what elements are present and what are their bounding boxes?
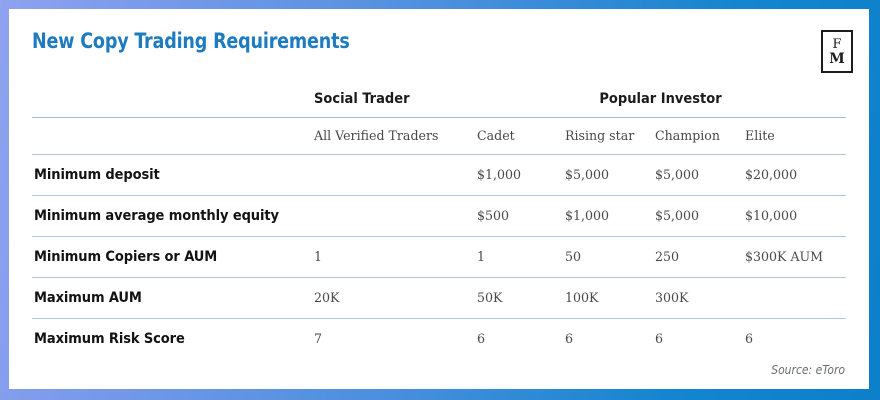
column-header-rising-star: Rising star: [563, 117, 653, 154]
row-label-minimum-copiers-or-aum: Minimum Copiers or AUM: [32, 236, 312, 277]
group-header-popular-investor: Popular Investor: [475, 81, 846, 117]
table-row: Maximum Risk Score 7 6 6 6 6: [32, 318, 846, 359]
row-label-maximum-aum: Maximum AUM: [32, 277, 312, 318]
cell-maximum-aum-champion: 300K: [653, 277, 743, 318]
row-label-minimum-average-monthly-equity: Minimum average monthly equity: [32, 195, 312, 236]
cell-maximum-aum-all-verified-traders: 20K: [312, 277, 475, 318]
row-label-minimum-deposit: Minimum deposit: [32, 154, 312, 195]
column-header-elite: Elite: [743, 117, 846, 154]
table-row: Minimum deposit $1,000 $5,000 $5,000 $20…: [32, 154, 846, 195]
group-header-blank: [32, 81, 312, 117]
requirements-table-wrap: Social Trader Popular Investor All Verif…: [32, 81, 846, 359]
cell-minimum-deposit-elite: $20,000: [743, 154, 846, 195]
cell-minimum-average-monthly-equity-cadet: $500: [475, 195, 563, 236]
table-column-header-row: All Verified Traders Cadet Rising star C…: [32, 117, 846, 154]
fm-logo: F M: [821, 30, 853, 73]
cell-minimum-copiers-or-aum-all-verified-traders: 1: [312, 236, 475, 277]
requirements-table: Social Trader Popular Investor All Verif…: [32, 81, 846, 359]
cell-maximum-risk-score-champion: 6: [653, 318, 743, 359]
cell-maximum-aum-cadet: 50K: [475, 277, 563, 318]
cell-minimum-average-monthly-equity-rising-star: $1,000: [563, 195, 653, 236]
cell-maximum-aum-elite: [743, 277, 846, 318]
table-row: Maximum AUM 20K 50K 100K 300K: [32, 277, 846, 318]
cell-minimum-deposit-cadet: $1,000: [475, 154, 563, 195]
table-row: Minimum Copiers or AUM 1 1 50 250 $300K …: [32, 236, 846, 277]
page-title: New Copy Trading Requirements: [32, 29, 350, 53]
infographic-card: New Copy Trading Requirements F M S: [9, 9, 869, 389]
cell-minimum-copiers-or-aum-cadet: 1: [475, 236, 563, 277]
cell-maximum-risk-score-all-verified-traders: 7: [312, 318, 475, 359]
cell-minimum-average-monthly-equity-champion: $5,000: [653, 195, 743, 236]
fm-logo-letter-f: F: [832, 38, 841, 52]
cell-minimum-deposit-all-verified-traders: [312, 154, 475, 195]
cell-minimum-deposit-champion: $5,000: [653, 154, 743, 195]
cell-minimum-average-monthly-equity-elite: $10,000: [743, 195, 846, 236]
cell-maximum-risk-score-cadet: 6: [475, 318, 563, 359]
column-header-all-verified-traders: All Verified Traders: [312, 117, 475, 154]
cell-minimum-average-monthly-equity-all-verified-traders: [312, 195, 475, 236]
fm-logo-letter-m: M: [829, 52, 845, 66]
cell-maximum-risk-score-rising-star: 6: [563, 318, 653, 359]
cell-maximum-aum-rising-star: 100K: [563, 277, 653, 318]
column-header-cadet: Cadet: [475, 117, 563, 154]
cell-minimum-copiers-or-aum-elite: $300K AUM: [743, 236, 846, 277]
table-group-header-row: Social Trader Popular Investor: [32, 81, 846, 117]
cell-minimum-deposit-rising-star: $5,000: [563, 154, 653, 195]
column-header-champion: Champion: [653, 117, 743, 154]
cell-maximum-risk-score-elite: 6: [743, 318, 846, 359]
gradient-frame: New Copy Trading Requirements F M S: [0, 0, 880, 400]
cell-minimum-copiers-or-aum-champion: 250: [653, 236, 743, 277]
source-note: Source: eToro: [771, 363, 845, 377]
group-header-social-trader: Social Trader: [312, 81, 475, 117]
row-label-maximum-risk-score: Maximum Risk Score: [32, 318, 312, 359]
table-row: Minimum average monthly equity $500 $1,0…: [32, 195, 846, 236]
column-header-blank: [32, 117, 312, 154]
cell-minimum-copiers-or-aum-rising-star: 50: [563, 236, 653, 277]
